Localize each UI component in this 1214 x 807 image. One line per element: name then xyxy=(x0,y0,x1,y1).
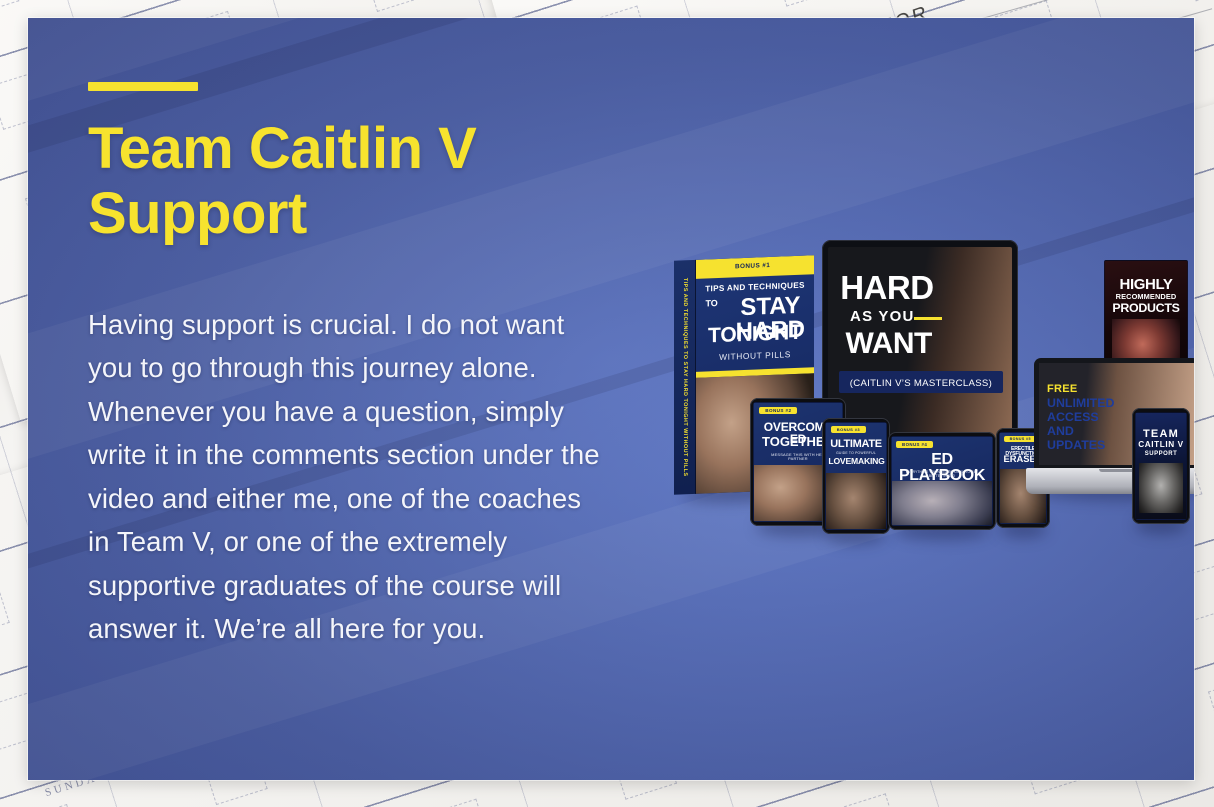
phone-screen: TEAM CAITLIN V SUPPORT xyxy=(1135,412,1187,520)
product-title-line: TO xyxy=(705,299,717,309)
cover-face: TEAM CAITLIN V SUPPORT xyxy=(1135,412,1187,520)
product-ed-playbook-tablet: BONUS #4 ED PLAYBOOK EVERYTHING YOU NEED… xyxy=(888,432,996,530)
product-team-caitlin-v-support-phone: TEAM CAITLIN V SUPPORT xyxy=(1132,408,1190,524)
book-spine: TIPS AND TECHNIQUES TO STAY HARD TONIGHT… xyxy=(674,260,696,495)
tablet-screen: BONUS #4 ED PLAYBOOK EVERYTHING YOU NEED… xyxy=(891,436,993,526)
accent-rule xyxy=(88,82,198,91)
phone-screen: BONUS #3 ULTIMATE GUIDE TO POWERFUL LOVE… xyxy=(825,422,887,530)
product-title-line: AND xyxy=(1047,424,1074,438)
product-ultimate-lovemaking-phone: BONUS #3 ULTIMATE GUIDE TO POWERFUL LOVE… xyxy=(822,418,890,534)
product-title-line: WANT xyxy=(839,329,938,360)
product-title-line: FREE xyxy=(1047,383,1078,395)
cover-photo xyxy=(826,473,886,529)
product-title-line: UNLIMITED xyxy=(1047,396,1114,410)
product-title-line: LOVEMAKING xyxy=(828,457,883,466)
product-title-line: ACCESS xyxy=(1047,410,1099,424)
product-title-line: TONIGHT xyxy=(701,321,810,347)
product-title-line: ED PLAYBOOK xyxy=(896,452,988,485)
product-title-line: HIGHLY xyxy=(1108,277,1183,292)
bonus-badge: BONUS #1 xyxy=(729,261,776,272)
bonus-badge: BONUS #4 xyxy=(896,441,933,448)
product-title-line: ULTIMATE xyxy=(828,439,883,450)
planner-cell xyxy=(834,793,899,807)
planner-cell xyxy=(773,0,838,7)
product-title-line: SUPPORT xyxy=(1138,451,1184,457)
product-title-line: AS YOU xyxy=(841,309,924,324)
product-subtitle: (CAITLIN V’S MASTERCLASS) xyxy=(841,378,1001,389)
product-bundle-collage: TIPS AND TECHNIQUES TO STAY HARD TONIGHT… xyxy=(626,240,1194,540)
planner-cell xyxy=(0,0,19,17)
cover-face: BONUS #3 ULTIMATE GUIDE TO POWERFUL LOVE… xyxy=(825,422,887,530)
book-spine-text: TIPS AND TECHNIQUES TO STAY HARD TONIGHT… xyxy=(682,278,688,477)
body-paragraph: Having support is crucial. I do not want… xyxy=(88,303,608,651)
hero-panel: Team Caitlin V Support Having support is… xyxy=(28,18,1194,780)
bonus-badge: BONUS #3 xyxy=(831,426,866,433)
hero-copy-block: Team Caitlin V Support Having support is… xyxy=(88,82,608,650)
cover-photo xyxy=(892,481,992,525)
product-title-line: CAITLIN V xyxy=(1138,441,1184,449)
page-title: Team Caitlin V Support xyxy=(88,117,608,247)
product-title-line: PRODUCTS xyxy=(1108,302,1183,315)
cover-photo xyxy=(1139,463,1183,513)
tablet-screen: HARD AS YOU WANT (CAITLIN V’S MASTERCLAS… xyxy=(828,247,1012,439)
planner-cell xyxy=(363,0,428,12)
product-title-line: HARD xyxy=(839,271,935,305)
product-title-line: TEAM xyxy=(1138,429,1184,440)
title-underline xyxy=(914,317,942,320)
bonus-badge: BONUS #2 xyxy=(759,407,797,414)
product-subtitle: WITHOUT PILLS xyxy=(708,350,802,363)
planner-cell xyxy=(0,579,10,639)
product-title-line: RECOMMENDED xyxy=(1108,293,1183,301)
product-title-line: UPDATES xyxy=(1047,438,1105,452)
cover-face: BONUS #4 ED PLAYBOOK EVERYTHING YOU NEED… xyxy=(891,436,993,526)
planner-cell xyxy=(425,799,490,807)
planner-cell xyxy=(1208,675,1214,735)
product-hard-as-you-want-tablet: HARD AS YOU WANT (CAITLIN V’S MASTERCLAS… xyxy=(822,240,1018,446)
product-subtitle: EVERYTHING YOU NEED TO KNOW TO GET BETTE… xyxy=(902,471,982,479)
